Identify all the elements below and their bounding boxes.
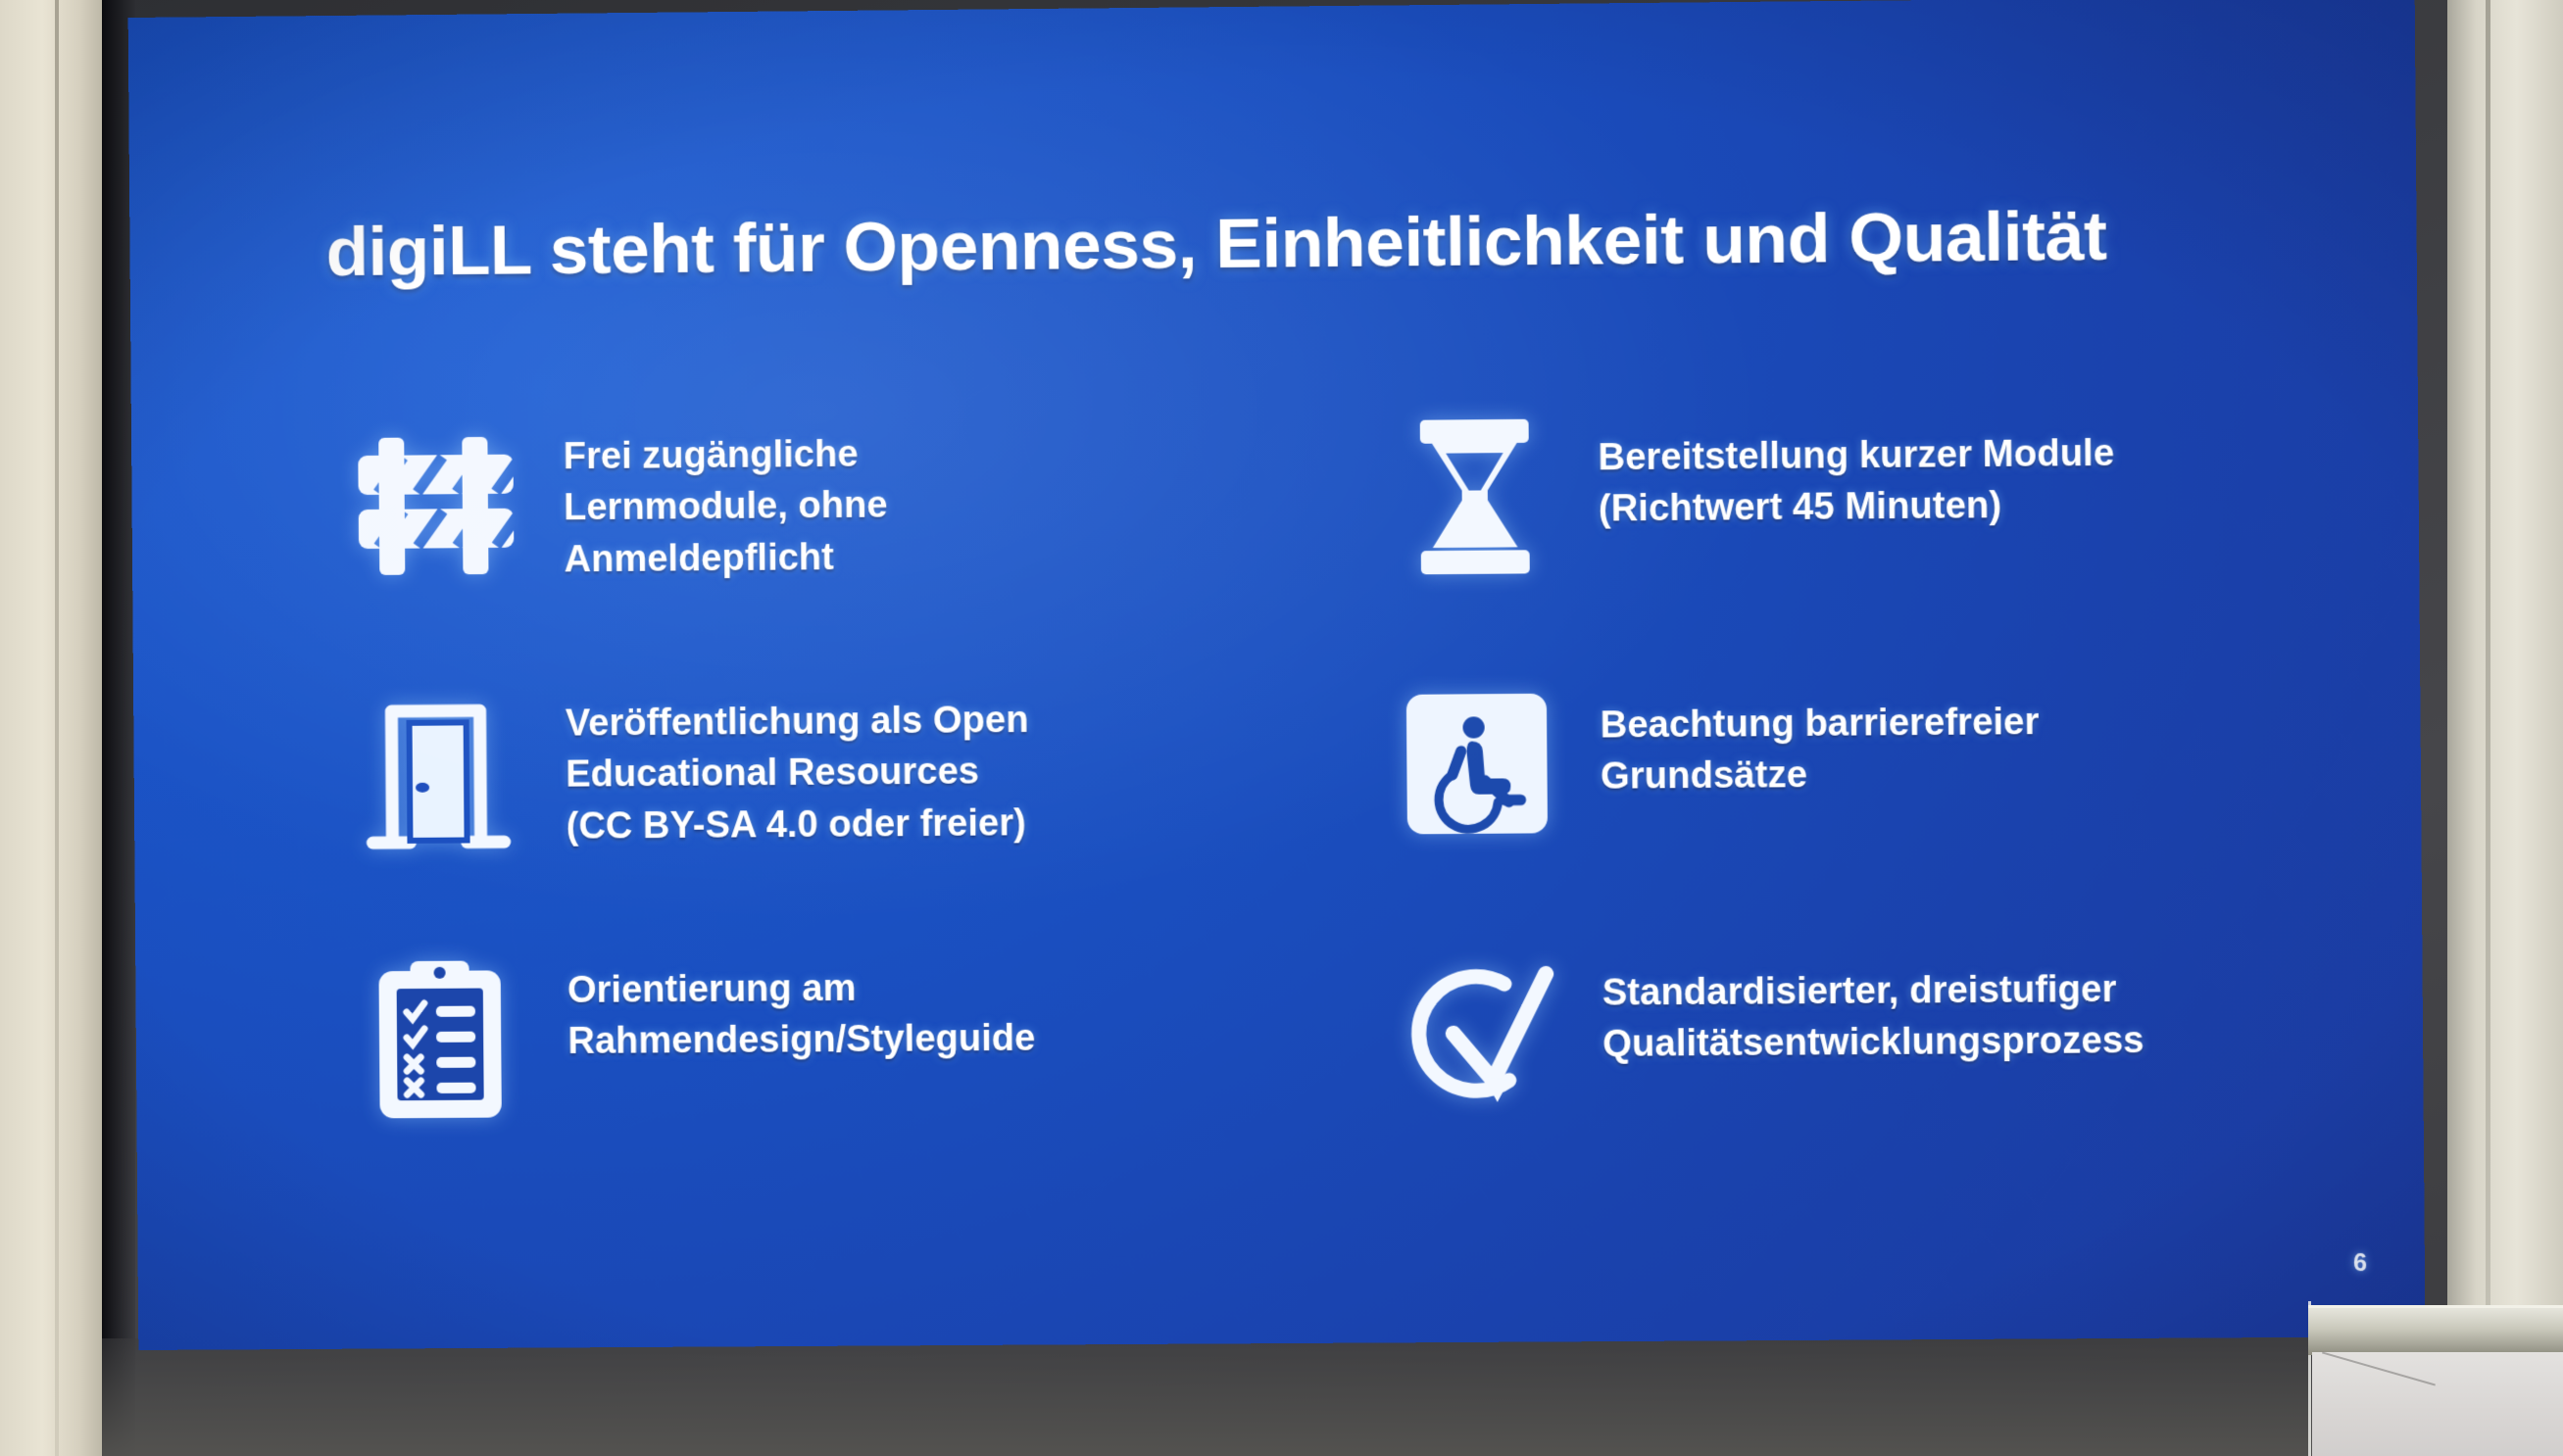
bullet-line: (CC BY-SA 4.0 oder freier) <box>566 798 1029 852</box>
wall-left <box>0 0 106 1456</box>
bullet-line: Orientierung am <box>567 962 1035 1017</box>
bullet-item-barrierefreiheit: Beachtung barrierefreier Grundsätze <box>1353 658 2364 934</box>
check-cycle-arrow-icon <box>1355 932 1603 1130</box>
wall-right-seam <box>2486 0 2490 1456</box>
bullet-line: Lernmodule, ohne <box>564 480 888 534</box>
frame-bottom-edge <box>102 1338 2454 1456</box>
bullet-line: (Richtwert 45 Minuten) <box>1599 479 2115 535</box>
bullet-text: Bereitstellung kurzer Module (Richtwert … <box>1598 393 2115 536</box>
slide-content-grid: Frei zugängliche Lernmodule, ohne Anmeld… <box>308 390 2367 1207</box>
hourglass-icon <box>1351 397 1599 596</box>
bullet-text: Standardisierter, dreistufiger Qualitäts… <box>1602 928 2144 1070</box>
wheelchair-accessibility-icon <box>1353 664 1602 863</box>
flipchart-board <box>2308 1295 2563 1456</box>
bullet-line: Beachtung barrierefreier <box>1600 697 2039 752</box>
bullet-line: Standardisierter, dreistufiger <box>1602 964 2144 1020</box>
flipchart-top-rail <box>2308 1305 2563 1355</box>
bullet-item-veroeffentlichung-als-oer: Veröffentlichung als Open Educational Re… <box>310 667 1315 942</box>
wall-left-seam <box>55 0 59 1456</box>
bullet-item-frei-zugaengliche-lernmodule: Frei zugängliche Lernmodule, ohne Anmeld… <box>308 400 1313 675</box>
slide-title: digiLL steht für Openness, Einheitlichke… <box>325 198 2349 290</box>
bullet-item-rahmendesign-styleguide: Orientierung am Rahmendesign/Styleguide <box>312 934 1317 1207</box>
bullet-line: Anmeldepflicht <box>564 531 888 585</box>
bullet-item-bereitstellung-kurzer-module: Bereitstellung kurzer Module (Richtwert … <box>1351 390 2362 666</box>
bullet-line: Grundsätze <box>1601 749 2040 803</box>
open-door-icon <box>310 673 567 871</box>
bullet-line: Veröffentlichung als Open <box>566 695 1029 750</box>
projected-slide: digiLL steht für Openness, Einheitlichke… <box>128 0 2426 1350</box>
slide-background: digiLL steht für Openness, Einheitlichke… <box>128 0 2426 1350</box>
bullet-text: Veröffentlichung als Open Educational Re… <box>565 669 1029 852</box>
bullet-line: Educational Resources <box>566 746 1029 801</box>
bullet-text: Beachtung barrierefreier Grundsätze <box>1600 661 2040 803</box>
road-barrier-icon <box>308 406 565 604</box>
bullet-text: Orientierung am Rahmendesign/Styleguide <box>567 936 1036 1067</box>
bullet-text: Frei zugängliche Lernmodule, ohne Anmeld… <box>563 403 888 585</box>
slide-page-number: 6 <box>2353 1249 2367 1278</box>
clipboard-checklist-icon <box>312 940 568 1138</box>
room-photo-scene: digiLL steht für Openness, Einheitlichke… <box>0 0 2563 1456</box>
wall-right <box>2447 0 2563 1456</box>
bullet-item-qualitaetsentwicklungsprozess: Standardisierter, dreistufiger Qualitäts… <box>1355 927 2366 1201</box>
bullet-line: Rahmendesign/Styleguide <box>567 1013 1035 1068</box>
flipchart-paper <box>2312 1352 2563 1456</box>
bullet-line: Bereitstellung kurzer Module <box>1598 428 2114 484</box>
bullet-line: Qualitätsentwicklungsprozess <box>1602 1015 2144 1070</box>
bullet-line: Frei zugängliche <box>564 428 888 482</box>
